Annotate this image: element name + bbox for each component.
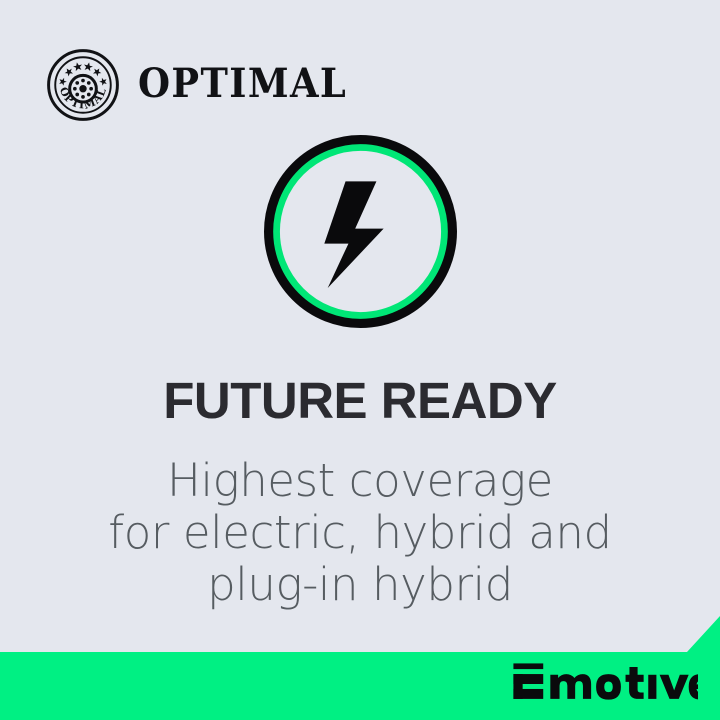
optimal-seal-icon: OPTIMAL — [46, 48, 120, 122]
bolt-glyph — [324, 181, 383, 288]
promo-card: OPTIMAL OPTIMAL FUTURE READY Highest cov… — [0, 0, 720, 720]
subtitle-line-2: for electric, hybrid and — [0, 507, 720, 559]
brand-wordmark: OPTIMAL — [138, 64, 347, 107]
subtitle-line-1: Highest coverage — [0, 455, 720, 507]
brand-lockup: OPTIMAL OPTIMAL — [46, 46, 365, 124]
page-title: FUTURE READY — [0, 374, 720, 428]
footer-bar — [0, 616, 720, 720]
subtitle-line-3: plug-in hybrid — [0, 559, 720, 611]
lightning-bolt-in-circle-icon — [264, 135, 457, 328]
emotive-wordmark-icon — [512, 662, 698, 706]
page-subtitle: Highest coverage for electric, hybrid an… — [0, 455, 720, 611]
